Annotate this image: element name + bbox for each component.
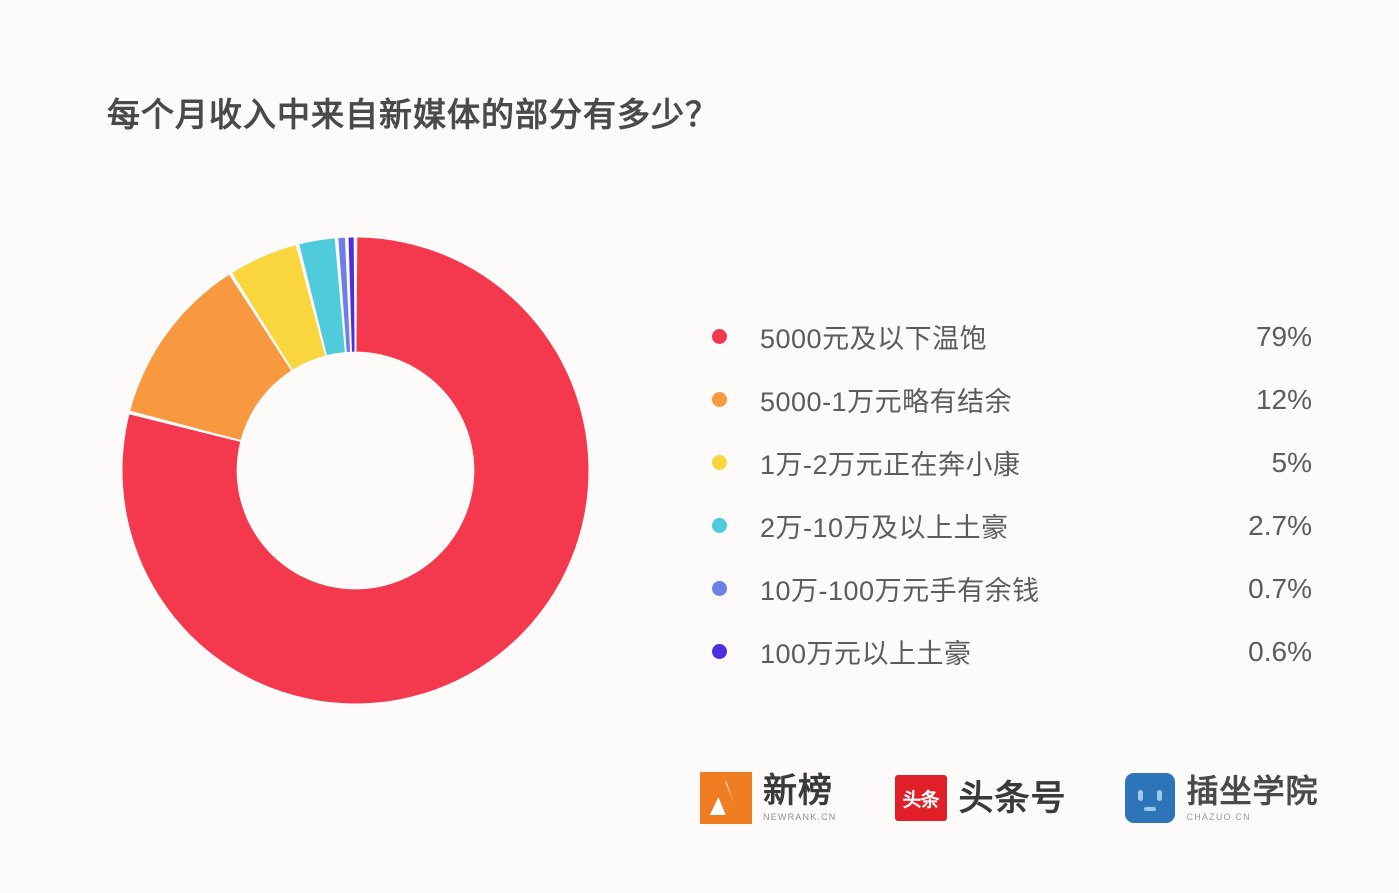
legend-item[interactable]: 100万元以上土豪 0.6% (712, 620, 1312, 683)
legend-item-value: 5% (1194, 447, 1312, 479)
donut-slice[interactable] (349, 238, 355, 352)
legend-item[interactable]: 2万-10万及以上土豪 2.7% (712, 494, 1312, 557)
chazuo-wordmark: 插坐学院 CHAZUO.CN (1187, 775, 1319, 822)
legend-item-value: 2.7% (1194, 510, 1312, 542)
legend-item-value: 12% (1194, 384, 1312, 416)
logo-toutiao: 头条 头条号 (895, 775, 1067, 821)
toutiao-badge-icon: 头条 (895, 775, 947, 821)
legend-swatch-icon (712, 644, 727, 659)
newrank-wordmark: 新榜 NEWRANK.CN (763, 774, 837, 822)
donut-chart (118, 233, 593, 708)
legend-item-label: 10万-100万元手有余钱 (760, 569, 1194, 608)
legend-item-value: 79% (1194, 321, 1312, 353)
legend-item-value: 0.6% (1194, 636, 1312, 668)
newrank-mark-icon (700, 772, 752, 824)
legend-item[interactable]: 10万-100万元手有余钱 0.7% (712, 557, 1312, 620)
legend-item[interactable]: 5000-1万元略有结余 12% (712, 368, 1312, 431)
legend-item-label: 1万-2万元正在奔小康 (760, 443, 1194, 482)
legend-swatch-icon (712, 581, 727, 596)
legend-item-label: 100万元以上土豪 (760, 632, 1194, 671)
newrank-cn-text: 新榜 (763, 774, 837, 808)
logo-chazuo: 插坐学院 CHAZUO.CN (1125, 773, 1319, 823)
legend-item-value: 0.7% (1194, 573, 1312, 605)
chazuo-mouth-icon (1144, 807, 1156, 811)
legend-swatch-icon (712, 455, 727, 470)
newrank-en-text: NEWRANK.CN (763, 813, 837, 822)
legend-swatch-icon (712, 392, 727, 407)
chazuo-eye-right-icon (1157, 790, 1162, 801)
chazuo-en-text: CHAZUO.CN (1187, 813, 1319, 822)
donut-slices (123, 238, 589, 704)
logo-newrank: 新榜 NEWRANK.CN (700, 772, 837, 824)
chazuo-cn-text: 插坐学院 (1187, 775, 1319, 807)
donut-chart-svg (118, 233, 593, 708)
legend-item-label: 5000元及以下温饱 (760, 317, 1194, 356)
footer-logos: 新榜 NEWRANK.CN 头条 头条号 插坐学院 CHAZUO.CN (700, 772, 1319, 824)
chazuo-eye-left-icon (1138, 790, 1143, 801)
page-title: 每个月收入中来自新媒体的部分有多少？ (107, 88, 719, 136)
chazuo-face-icon (1125, 773, 1175, 823)
chart-legend: 5000元及以下温饱 79% 5000-1万元略有结余 12% 1万-2万元正在… (712, 305, 1312, 683)
toutiao-cn-text: 头条号 (959, 781, 1067, 816)
legend-item[interactable]: 5000元及以下温饱 79% (712, 305, 1312, 368)
legend-swatch-icon (712, 518, 727, 533)
legend-item-label: 2万-10万及以上土豪 (760, 506, 1194, 545)
legend-item-label: 5000-1万元略有结余 (760, 380, 1194, 419)
legend-item[interactable]: 1万-2万元正在奔小康 5% (712, 431, 1312, 494)
legend-swatch-icon (712, 329, 727, 344)
